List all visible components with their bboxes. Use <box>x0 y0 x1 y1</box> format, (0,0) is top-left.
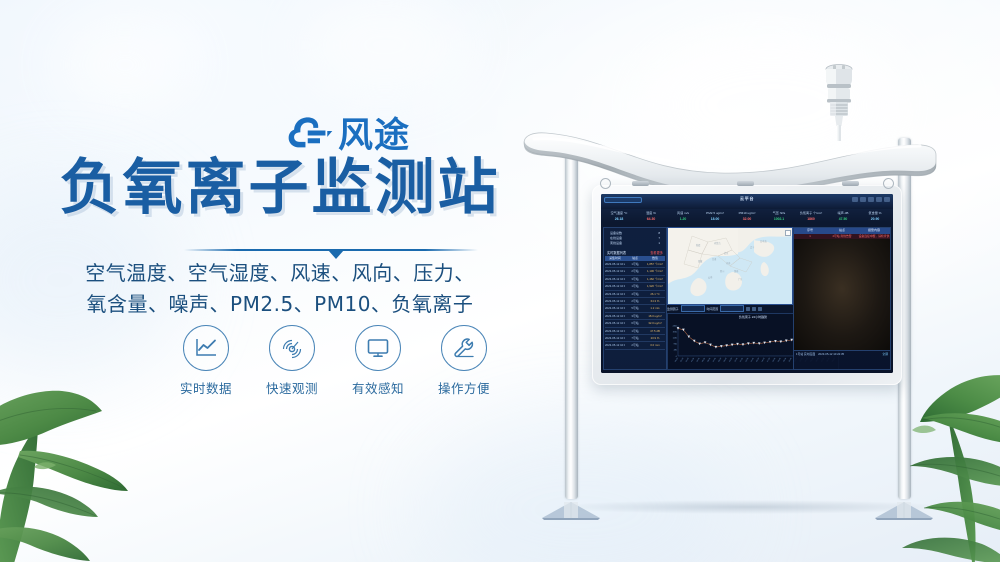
station-map[interactable]: 新疆内蒙古北京 甘肃河南四川 湖南广东西藏 辽宁日本海云南 <box>667 227 793 305</box>
cell-site: 1号站 <box>625 261 645 267</box>
feature-icon-circle <box>355 325 401 371</box>
cell-value: 0.0 mm <box>645 342 665 348</box>
table-row[interactable]: 2023-05-12 10:202号站1,106 个/cm³ <box>605 268 665 275</box>
green-leaves-right <box>864 372 1000 562</box>
cell-time: 2023-05-12 10:22 <box>605 261 625 267</box>
alarm-and-camera-panel: 序号 站点 报警内容 1 2号站 离线告警 设备连接中断，请检查供电 <box>793 227 891 351</box>
device-stats: 设备总数8 在线设备7 离线设备1 <box>610 231 660 246</box>
table-row[interactable]: 2023-05-12 10:105号站1.2 m/s <box>605 305 665 312</box>
feature-label: 快速观测 <box>256 378 328 397</box>
cell-time: 2023-05-12 10:20 <box>605 268 625 274</box>
kpi-value: 1.20 <box>667 216 699 222</box>
table-row[interactable]: 2023-05-12 10:041号站47.5 dB <box>605 328 665 335</box>
feature-list: 实时数据 快速观测 <box>170 325 500 397</box>
map-tool-icon-1[interactable] <box>746 307 750 311</box>
kpi-card: 噪声 dB47.50 <box>827 210 859 225</box>
cell-site: 1号站 <box>625 283 645 289</box>
cell-time: 2023-05-12 10:16 <box>605 283 625 289</box>
cell-time: 2023-05-12 10:06 <box>605 320 625 326</box>
kpi-card: 风速 m/s1.20 <box>667 210 699 225</box>
map-filter-label-2: 时间范围 <box>707 307 719 311</box>
svg-text:15:00: 15:00 <box>756 358 760 363</box>
cell-value: 64.3 % <box>645 298 665 304</box>
cell-value: 26.1 °C <box>645 291 665 297</box>
svg-text:16:00: 16:00 <box>761 358 765 363</box>
camera-status-left: 1号站 实时画面 <box>796 352 815 356</box>
svg-text:14:00: 14:00 <box>751 358 755 363</box>
camera-feed[interactable] <box>794 239 890 350</box>
cell-value: 32.0 ug/m³ <box>645 320 665 326</box>
camera-status-bar: 1号站 实时画面 2023-05-12 10:22:35 全屏 <box>793 350 891 370</box>
svg-text:11:00: 11:00 <box>734 358 738 363</box>
table-row[interactable]: 2023-05-12 10:221号站1,857 个/cm³ <box>605 261 665 268</box>
svg-text:04:00: 04:00 <box>696 358 700 363</box>
svg-text:480: 480 <box>674 350 678 352</box>
feature-icon-circle <box>183 325 229 371</box>
feature-icon-circle <box>269 325 315 371</box>
feature-label: 实时数据 <box>170 378 242 397</box>
feature-item-easy-operation[interactable]: 操作方便 <box>428 325 500 397</box>
cell-time: 2023-05-12 10:14 <box>605 291 625 297</box>
map-filter-label-1: 监测因子 <box>667 307 679 311</box>
feature-item-realtime-data[interactable]: 实时数据 <box>170 325 242 397</box>
cell-value: 1,920 个/cm³ <box>645 283 665 289</box>
data-table-title: 实时数据列表 <box>607 250 626 255</box>
svg-text:10:00: 10:00 <box>729 358 733 363</box>
cell-value: 1,857 个/cm³ <box>645 261 665 267</box>
line-chart-icon <box>194 337 218 359</box>
kpi-strip: 空气温度 °C26.18 湿度 %64.30 风速 m/s1.20 PM2.5 … <box>603 210 891 225</box>
svg-text:02:00: 02:00 <box>686 358 690 363</box>
svg-text:08:00: 08:00 <box>718 358 722 363</box>
kpi-card: 气压 hPa1002.1 <box>763 210 795 225</box>
wrench-icon <box>452 336 476 360</box>
base-plate-left <box>540 496 602 520</box>
cell-value: 1.2 m/s <box>645 305 665 311</box>
poster-canvas: 风途 负氧离子监测站 空气温度、空气湿度、风速、风向、压力、 氧含量、噪声、PM… <box>0 0 1000 562</box>
dashboard: 云平台 空气温度 °C26.18 湿度 %64.30 风速 m/s1.20 PM… <box>601 194 893 373</box>
panel-clip-1 <box>632 181 649 186</box>
kpi-value: 47.50 <box>827 216 859 222</box>
kpi-card: PM10 ug/m³32.00 <box>731 210 763 225</box>
kpi-card: 负氧离子 个/cm³1860 <box>795 210 827 225</box>
cell-value: 1,482 个/cm³ <box>645 276 665 282</box>
panel-hanger-left <box>600 178 611 189</box>
cell-time: 2023-05-12 10:10 <box>605 305 625 311</box>
svg-text:03:00: 03:00 <box>691 358 695 363</box>
cell-time: 2023-05-12 10:04 <box>605 328 625 334</box>
page-title: 负氧离子监测站 <box>0 158 560 218</box>
gear-icon[interactable] <box>876 197 882 202</box>
kpi-card: 湿度 %64.30 <box>635 210 667 225</box>
svg-text:1920: 1920 <box>673 331 678 333</box>
map-filter-select-2[interactable] <box>720 305 744 312</box>
cell-value: 1,106 个/cm³ <box>645 268 665 274</box>
cell-site: 2号站 <box>625 342 645 348</box>
kpi-value: 18.00 <box>699 216 731 222</box>
panel-clip-3 <box>842 181 859 186</box>
svg-text:18:00: 18:00 <box>772 358 776 363</box>
cell-time: 2023-05-12 10:08 <box>605 313 625 319</box>
stat-value: 1 <box>658 241 660 246</box>
svg-text:13:00: 13:00 <box>745 358 749 363</box>
subtitle-line-2: 氧含量、噪声、PM2.5、PM10、负氧离子 <box>0 289 560 320</box>
svg-text:19:00: 19:00 <box>778 358 782 363</box>
map-tool-icon-3[interactable] <box>758 307 762 311</box>
feature-icon-circle <box>441 325 487 371</box>
table-row[interactable]: 2023-05-12 10:144号站26.1 °C <box>605 291 665 298</box>
dashboard-left-panel: 设备总数8 在线设备7 离线设备1 实时数据列表 查看更多 采集时间 站点 数值 <box>603 227 667 370</box>
cell-site: 4号站 <box>625 291 645 297</box>
panel-clip-2 <box>737 181 754 186</box>
data-table-body[interactable]: 2023-05-12 10:221号站1,857 个/cm³ 2023-05-1… <box>605 261 665 368</box>
kpi-value: 64.30 <box>635 216 667 222</box>
cell-time: 2023-05-12 10:02 <box>605 335 625 341</box>
cloud-wind-logo-icon <box>287 116 333 156</box>
kpi-card: 空气温度 °C26.18 <box>603 210 635 225</box>
cell-site: 7号站 <box>625 335 645 341</box>
svg-text:07:00: 07:00 <box>713 358 717 363</box>
data-table-header: 实时数据列表 查看更多 <box>605 250 665 255</box>
cell-site: 3号站 <box>625 276 645 282</box>
table-row[interactable]: 2023-05-12 10:066号站32.0 ug/m³ <box>605 320 665 327</box>
kpi-value: 20.90 <box>859 216 891 222</box>
data-table-action[interactable]: 查看更多 <box>650 250 663 255</box>
svg-text:05:00: 05:00 <box>702 358 706 363</box>
subtitle: 空气温度、空气湿度、风速、风向、压力、 氧含量、噪声、PM2.5、PM10、负氧… <box>0 258 560 320</box>
grid-icon[interactable] <box>852 197 858 202</box>
cell-site: 5号站 <box>625 305 645 311</box>
brand-name: 风途 <box>338 119 410 154</box>
table-row[interactable]: 2023-05-12 10:027号站20.9 % <box>605 335 665 342</box>
cell-value: 20.9 % <box>645 335 665 341</box>
cell-time: 2023-05-12 10:12 <box>605 298 625 304</box>
kpi-value: 1860 <box>795 216 827 222</box>
support-post-left <box>565 142 578 499</box>
cell-time: 2023-05-12 10:18 <box>605 276 625 282</box>
map-tool-icon-2[interactable] <box>752 307 756 311</box>
svg-text:960: 960 <box>674 344 678 346</box>
cell-site: 6号站 <box>625 320 645 326</box>
svg-text:01:00: 01:00 <box>680 358 684 363</box>
table-row[interactable]: 2023-05-12 10:002号站0.0 mm <box>605 342 665 349</box>
svg-text:四川: 四川 <box>720 270 724 273</box>
table-row[interactable]: 2023-05-12 10:083号站18.0 ug/m³ <box>605 313 665 320</box>
green-leaves-left <box>0 365 180 562</box>
feature-item-fast-observation[interactable]: 快速观测 <box>256 325 328 397</box>
logout-icon[interactable] <box>884 197 890 202</box>
table-row[interactable]: 2023-05-12 10:161号站1,920 个/cm³ <box>605 283 665 290</box>
stat-row: 离线设备1 <box>610 241 660 246</box>
monitor-screen-icon <box>366 337 390 359</box>
camera-fullscreen-button[interactable]: 全屏 <box>882 352 888 356</box>
cell-site: 3号站 <box>625 313 645 319</box>
kpi-card: PM2.5 ug/m³18.00 <box>699 210 731 225</box>
title-divider <box>184 245 478 259</box>
svg-text:12:00: 12:00 <box>740 358 744 363</box>
feature-item-effective-sensing[interactable]: 有效感知 <box>342 325 414 397</box>
radar-wave-icon <box>280 336 304 360</box>
svg-text:06:00: 06:00 <box>707 358 711 363</box>
svg-text:21:00: 21:00 <box>788 358 792 363</box>
bell-icon[interactable] <box>868 197 874 202</box>
feature-label: 操作方便 <box>428 378 500 397</box>
table-row[interactable]: 2023-05-12 10:122号站64.3 % <box>605 298 665 305</box>
cell-value: 18.0 ug/m³ <box>645 313 665 319</box>
svg-text:09:00: 09:00 <box>724 358 728 363</box>
kpi-value: 32.00 <box>731 216 763 222</box>
cell-time: 2023-05-12 10:00 <box>605 342 625 348</box>
cell-site: 2号站 <box>625 268 645 274</box>
dashboard-toolbar[interactable] <box>820 196 890 203</box>
kpi-value: 26.18 <box>603 216 635 222</box>
stat-label: 离线设备 <box>610 241 622 246</box>
table-row[interactable]: 2023-05-12 10:183号站1,482 个/cm³ <box>605 276 665 283</box>
kpi-card: 氧含量 %20.90 <box>859 210 891 225</box>
svg-text:1440: 1440 <box>673 338 678 340</box>
panel-hanger-right <box>883 178 894 189</box>
fullscreen-icon[interactable] <box>785 230 791 236</box>
subtitle-line-1: 空气温度、空气湿度、风速、风向、压力、 <box>0 258 560 289</box>
display-screen[interactable]: 云平台 空气温度 °C26.18 湿度 %64.30 风速 m/s1.20 PM… <box>601 194 893 373</box>
outdoor-lcd-display: 云平台 空气温度 °C26.18 湿度 %64.30 风速 m/s1.20 PM… <box>592 185 902 385</box>
cell-site: 1号站 <box>625 328 645 334</box>
map-land-mass: 新疆内蒙古北京 甘肃河南四川 湖南广东西藏 辽宁日本海云南 <box>668 228 792 304</box>
svg-text:00:00: 00:00 <box>675 358 679 363</box>
map-controls[interactable]: 监测因子 时间范围 <box>667 305 791 312</box>
map-filter-select-1[interactable] <box>681 305 705 312</box>
camera-status-row: 1号站 实时画面 2023-05-12 10:22:35 全屏 <box>796 352 888 356</box>
cell-site: 2号站 <box>625 298 645 304</box>
svg-text:20:00: 20:00 <box>783 358 787 363</box>
feature-label: 有效感知 <box>342 378 414 397</box>
kpi-value: 1002.1 <box>763 216 795 222</box>
user-icon[interactable] <box>860 197 866 202</box>
svg-text:17:00: 17:00 <box>767 358 771 363</box>
cell-value: 47.5 dB <box>645 328 665 334</box>
camera-status-right: 2023-05-12 10:22:35 <box>818 352 844 356</box>
